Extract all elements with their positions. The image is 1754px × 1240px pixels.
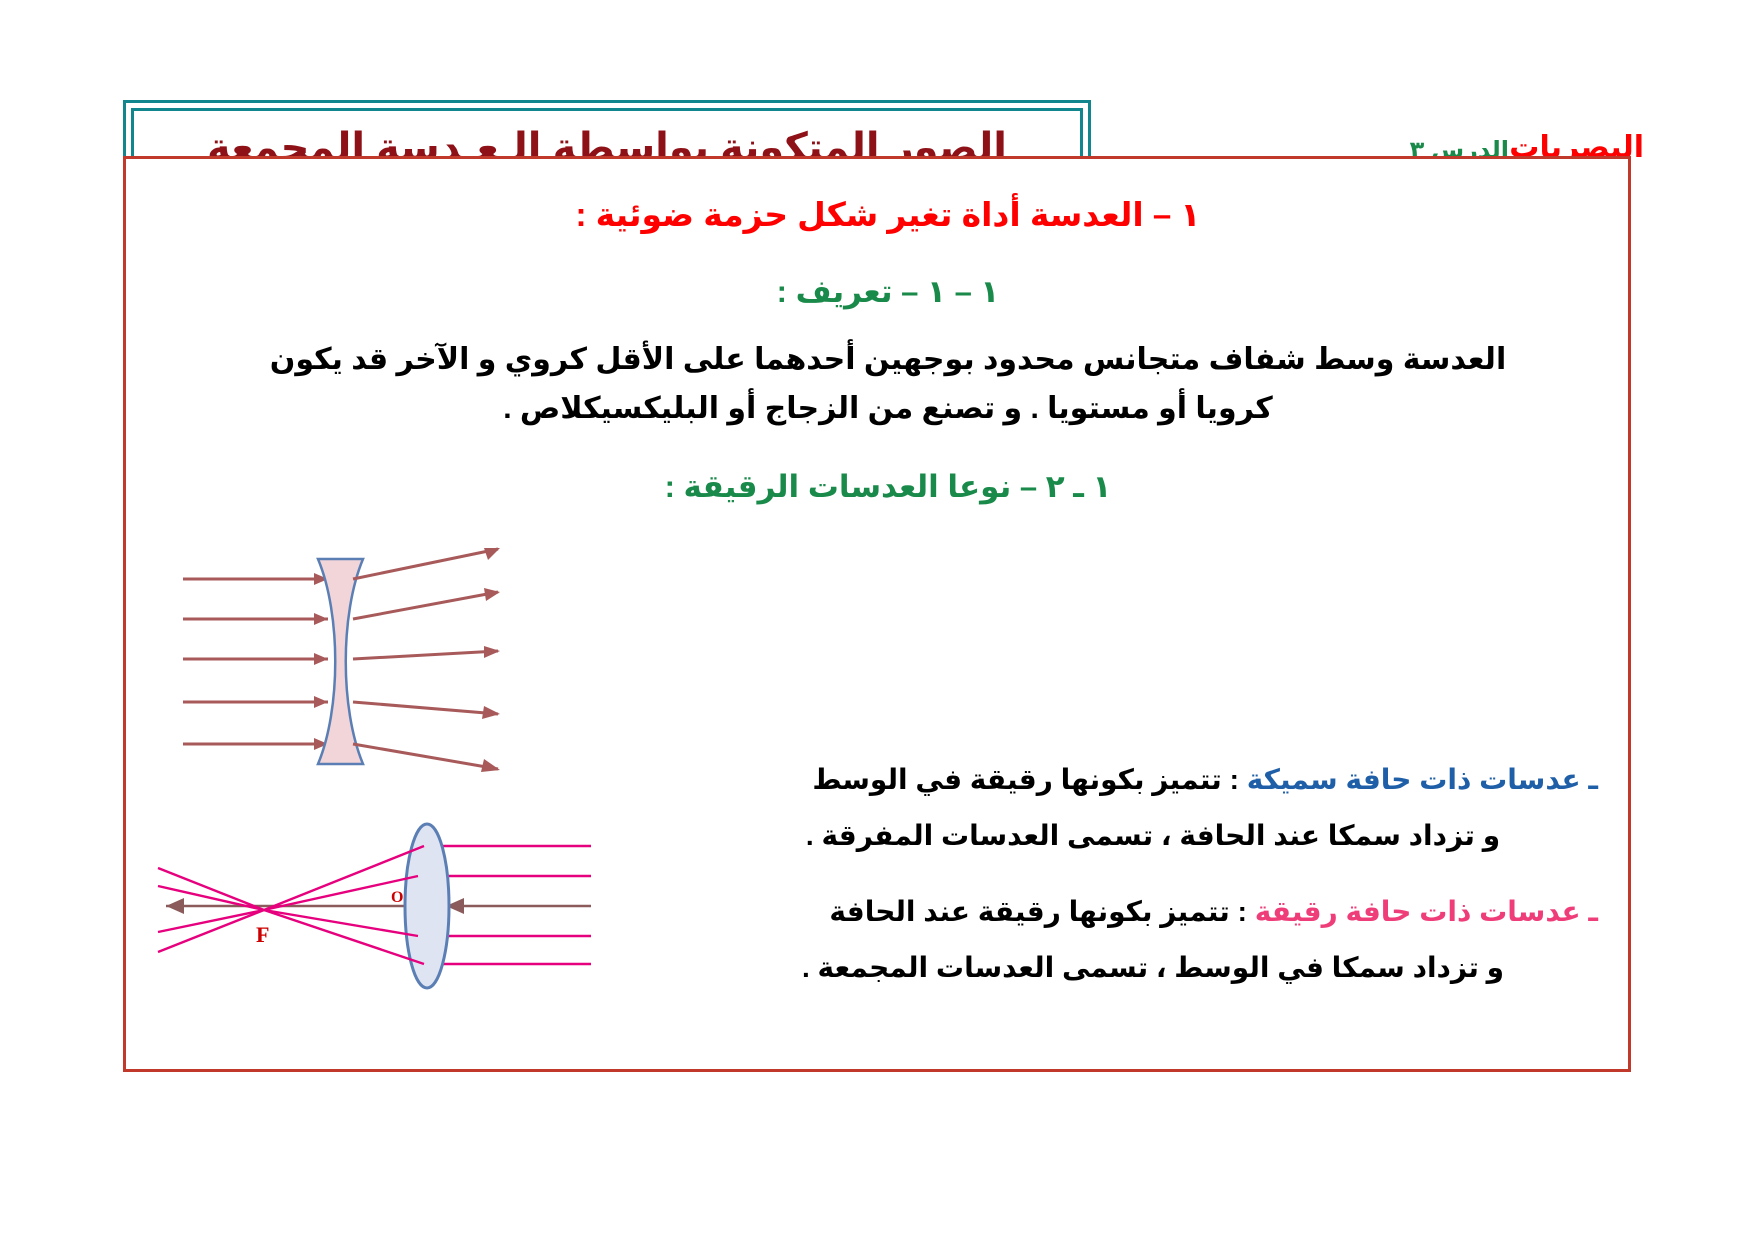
text-content: ١ – العدسة أداة تغير شكل حزمة ضوئية : ١ …: [178, 177, 1598, 505]
bullet-2-text: : تتميز بكونها رقيقة عند الحافة: [829, 896, 1254, 927]
bullet-thin-edge-lens: ـ عدسات ذات حافة رقيقة : تتميز بكونها رق…: [708, 891, 1598, 933]
bullet-2-label: ـ عدسات ذات حافة رقيقة: [1255, 896, 1598, 927]
heading-1: ١ – العدسة أداة تغير شكل حزمة ضوئية :: [178, 195, 1598, 234]
slide-header: البصريات الدرس ٣ الصور المتكونة بواسطة ا…: [0, 48, 1754, 154]
converging-lens-figure: F O: [146, 824, 606, 1034]
focal-point-label: F: [256, 922, 269, 947]
heading-1-2: ١ ـ ٢ – نوعا العدسات الرقيقة :: [178, 469, 1598, 505]
optical-center-label: O: [391, 889, 403, 906]
bullet-1-label: ـ عدسات ذات حافة سميكة: [1247, 764, 1598, 795]
lens-types-bullets: ـ عدسات ذات حافة سميكة : تتميز بكونها رق…: [708, 759, 1598, 1003]
bullet-1-continuation: و تزداد سمكا عند الحافة ، تسمى العدسات ا…: [708, 815, 1598, 857]
definition-line-1: العدسة وسط شفاف متجانس محدود بوجهين أحده…: [270, 343, 1506, 376]
bullet-1-text: : تتميز بكونها رقيقة في الوسط: [812, 764, 1246, 795]
bullet-2-continuation: و تزداد سمكا في الوسط ، تسمى العدسات الم…: [708, 947, 1598, 989]
bullet-thick-edge-lens: ـ عدسات ذات حافة سميكة : تتميز بكونها رق…: [708, 759, 1598, 801]
definition-paragraph: العدسة وسط شفاف متجانس محدود بوجهين أحده…: [178, 336, 1598, 433]
diverging-lens-figure: [178, 554, 538, 784]
heading-1-1: ١ – ١ – تعريف :: [178, 274, 1598, 310]
definition-line-2: كرويا أو مستويا . و تصنع من الزجاج أو ال…: [503, 392, 1272, 425]
content-box: ١ – العدسة أداة تغير شكل حزمة ضوئية : ١ …: [123, 156, 1631, 1072]
